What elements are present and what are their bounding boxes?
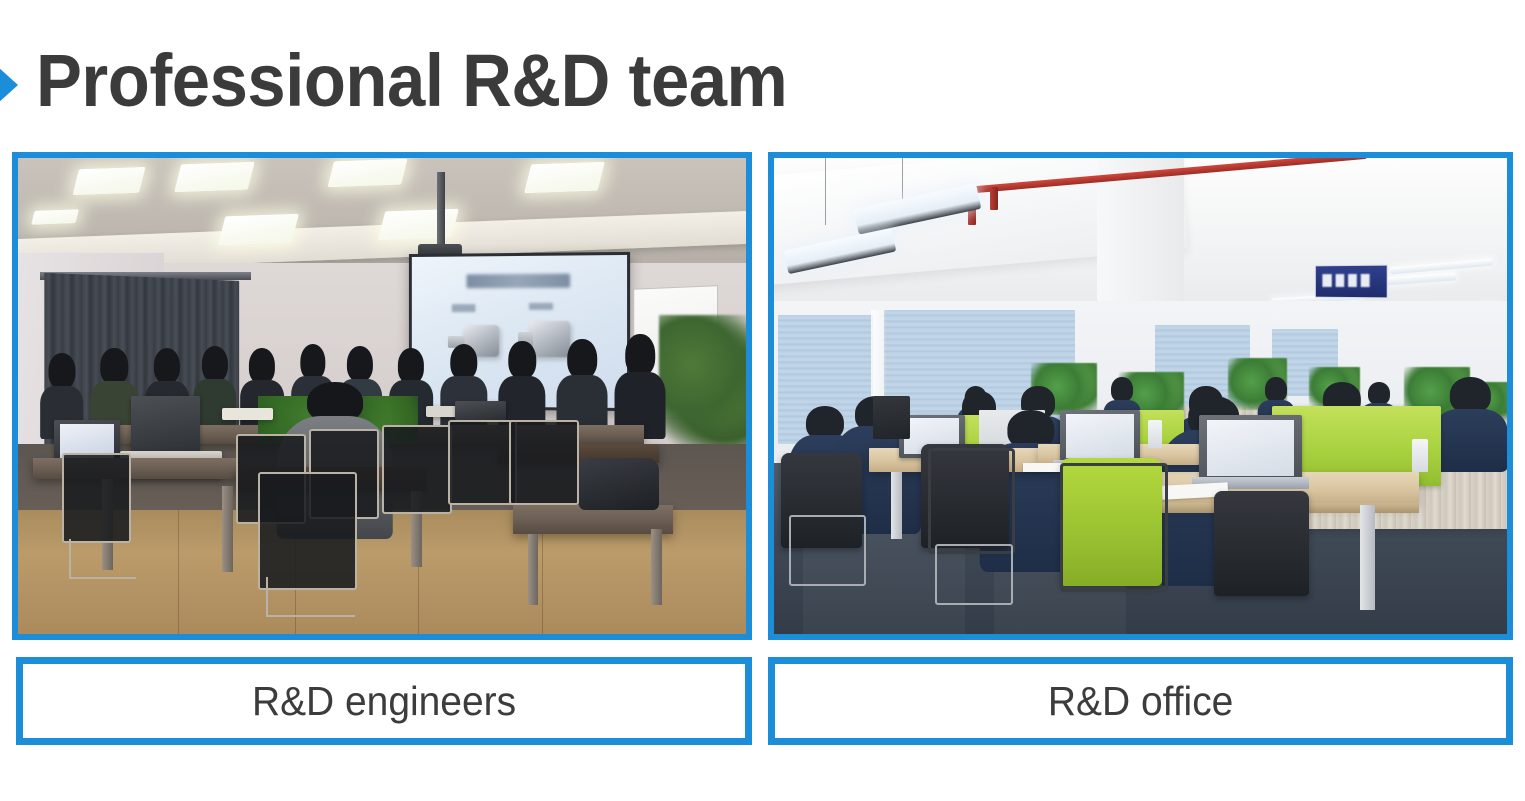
desk-leg [891,472,901,539]
table-leg [528,534,538,605]
attendee-head [249,348,275,383]
ceiling-light [31,210,79,226]
rd-engineers-panel[interactable] [12,152,752,640]
page-title: Professional R&D team [36,36,787,126]
ceiling-light [218,214,299,245]
attendee-head [626,334,656,376]
lamp-wire [902,158,903,201]
attendee-head [201,346,227,382]
office-worker [1434,377,1507,472]
rd-office-panel[interactable] [768,152,1513,640]
sprinkler-drop [990,187,997,211]
chair [62,453,132,543]
desk-leg [1360,505,1375,610]
chair-frame [1060,463,1169,593]
structural-column [1097,158,1185,320]
chair-leg [266,577,355,617]
laptop-screen [1066,414,1134,458]
department-sign [1315,265,1388,299]
chair-frame [928,448,1015,554]
ceiling-light [524,161,605,192]
rd-office-caption: R&D office [1048,678,1233,725]
chair [448,420,518,505]
laptop-screen [1207,420,1293,476]
right-arrow-icon [0,58,18,112]
chair-frame [789,515,866,586]
sign-glyph [1322,275,1331,288]
ceiling-light [378,209,459,240]
floor-seam [178,510,179,634]
attendee-head [398,348,424,383]
backpack [579,458,659,510]
chair [509,420,579,505]
laptop [1060,410,1141,462]
attendee-head [101,348,128,384]
papers [222,408,273,420]
sign-glyph [1335,274,1344,287]
worker-head [1450,377,1490,413]
office-chair [1214,491,1309,596]
attendee-head [567,339,597,379]
attendee-head [508,341,535,379]
rd-office-photo [774,158,1507,634]
ceiling-light [73,166,146,194]
potted-plant [659,315,746,458]
laptop [455,401,506,420]
slide-label-right [529,303,553,311]
worker-head [1111,377,1133,402]
projector-mount [437,172,445,253]
attendee [615,334,666,439]
chair [382,425,452,515]
attendee-head [347,346,373,382]
rd-engineers-caption-box[interactable]: R&D engineers [16,657,752,745]
rd-office-caption-box[interactable]: R&D office [768,657,1513,745]
table-leg [651,529,661,605]
page-header: Professional R&D team [0,0,1525,145]
table-leg [222,486,233,572]
sign-glyph [1348,274,1357,287]
chair-frame [935,544,1012,605]
attendee-head [48,353,75,389]
chair-foreground [258,472,357,590]
rd-engineers-caption: R&D engineers [252,678,516,725]
lamp-wire [825,158,826,225]
rd-engineers-photo [18,158,746,634]
ceiling-light [327,159,407,188]
slide-label-left [452,305,475,313]
laptop [1199,415,1302,482]
monitor [873,396,910,439]
water-bottle [1412,439,1428,472]
slide-title-blur [467,274,570,288]
water-bottle [1148,420,1163,449]
worker-body [1434,409,1507,472]
chair-leg [69,539,137,579]
attendee-head [450,344,477,380]
sign-glyph [1360,274,1369,287]
ceiling-light [174,161,254,191]
attendee-head [154,348,180,384]
attendee-head [300,344,325,380]
